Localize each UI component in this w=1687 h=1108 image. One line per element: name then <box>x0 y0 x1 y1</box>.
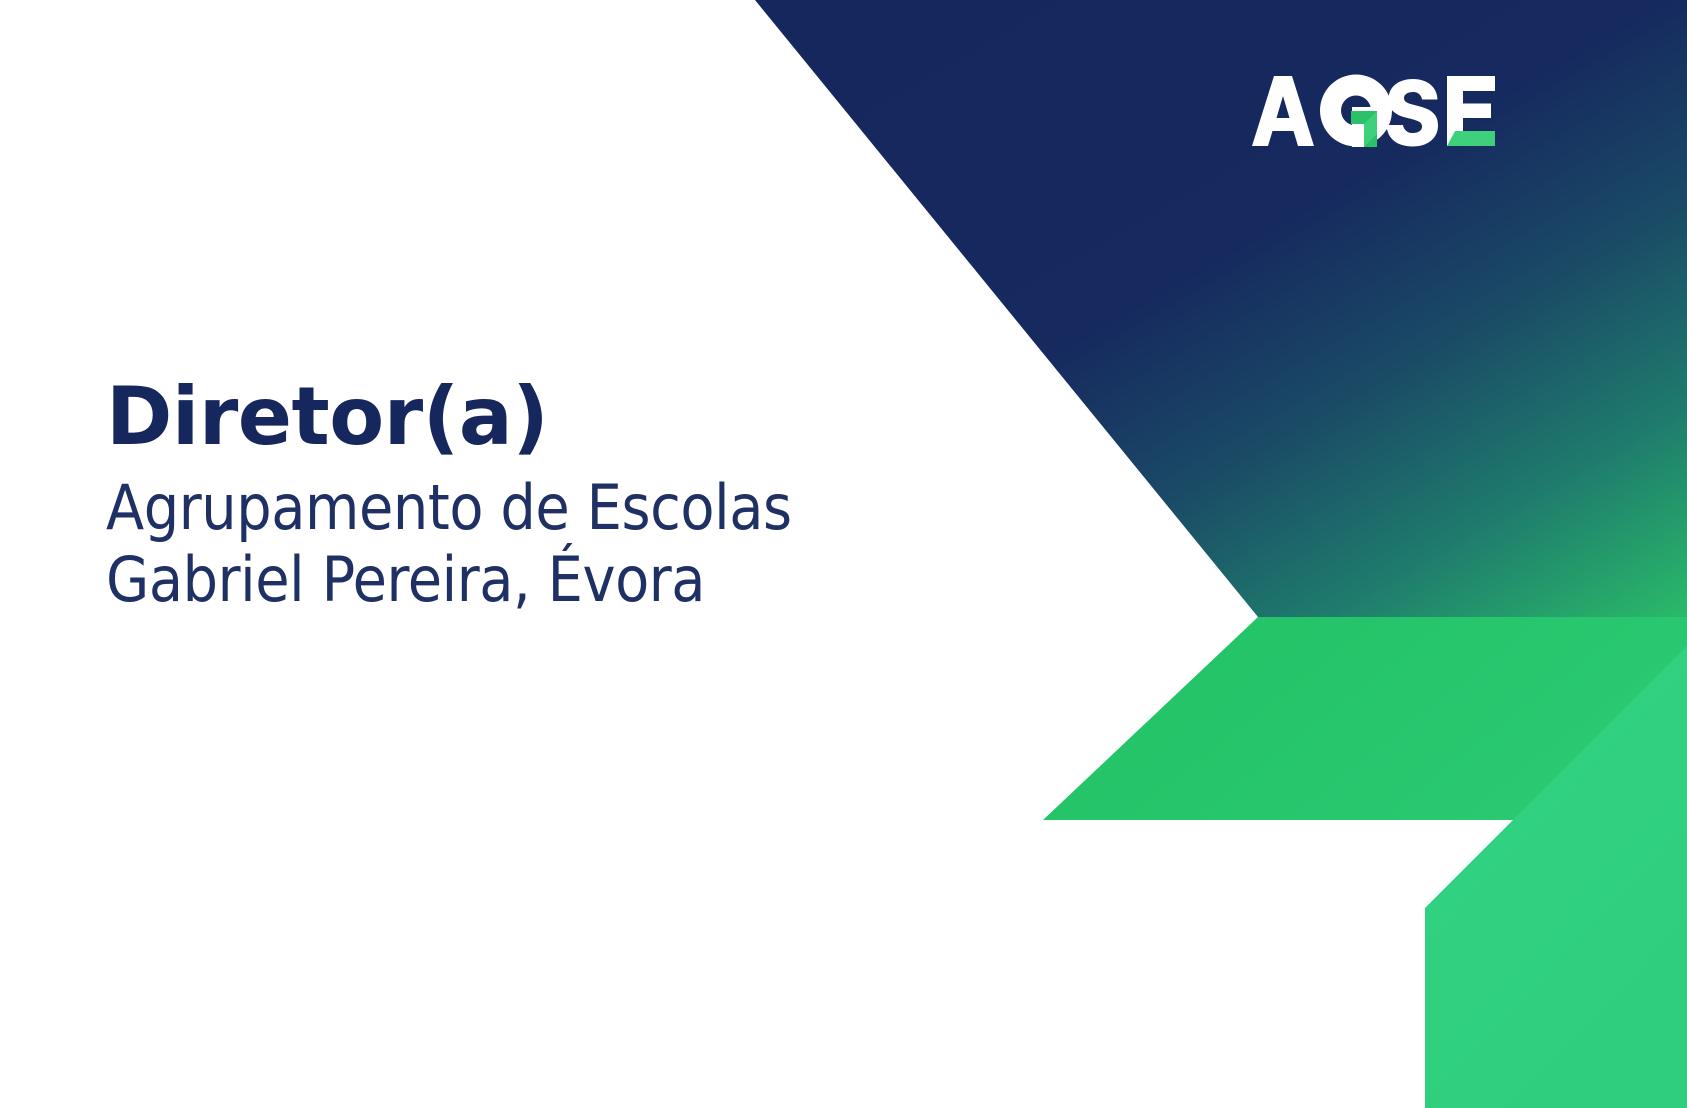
logo-letter-s <box>1387 79 1439 147</box>
page-title: Diretor(a) <box>106 376 1006 458</box>
subtitle-line-2: Gabriel Pereira, Évora <box>106 544 1006 617</box>
green-chevron-band <box>1043 617 1687 820</box>
presentation-slide: Diretor(a) Agrupamento de Escolas Gabrie… <box>0 0 1687 1108</box>
subtitle-line-1: Agrupamento de Escolas <box>106 472 1006 545</box>
title-block: Diretor(a) Agrupamento de Escolas Gabrie… <box>106 376 1006 617</box>
agse-logo <box>1248 70 1498 154</box>
subtitle: Agrupamento de Escolas Gabriel Pereira, … <box>106 472 1006 617</box>
logo-letter-g <box>1320 75 1392 155</box>
green-right-column <box>1425 646 1687 1108</box>
logo-letter-a <box>1252 76 1314 146</box>
logo-letter-e <box>1447 76 1495 146</box>
